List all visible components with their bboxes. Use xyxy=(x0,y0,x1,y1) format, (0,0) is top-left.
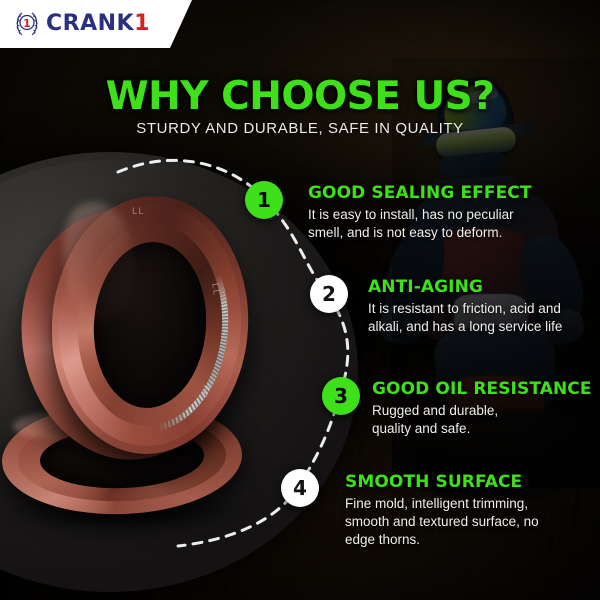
oil-seal-standing-ring: LL LL FF xyxy=(43,189,257,460)
feature-1-line-2: smell, and is not easy to deform. xyxy=(308,224,532,242)
step-badge-4-number: 4 xyxy=(293,476,307,500)
why-choose-us-poster: LL LL FF xyxy=(0,0,600,600)
brand-wordmark: CRANK1 xyxy=(46,13,150,35)
step-badge-3[interactable]: 3 xyxy=(322,377,360,415)
svg-text:1: 1 xyxy=(23,17,31,30)
page-subtitle: STURDY AND DURABLE, SAFE IN QUALITY xyxy=(0,120,600,137)
product-marking: LL xyxy=(209,282,221,296)
feature-1-body: It is easy to install, has no peculiar s… xyxy=(308,206,532,242)
feature-4-body: Fine mold, intelligent trimming, smooth … xyxy=(345,495,539,549)
feature-2-line-1: It is resistant to friction, acid and xyxy=(368,300,562,318)
feature-3-title: GOOD OIL RESISTANCE xyxy=(372,379,592,399)
feature-1-title: GOOD SEALING EFFECT xyxy=(308,183,532,203)
feature-2-title: ANTI-AGING xyxy=(368,277,562,297)
feature-4-line-1: Fine mold, intelligent trimming, xyxy=(345,495,539,513)
feature-3-line-1: Rugged and durable, xyxy=(372,402,592,420)
step-badge-2-number: 2 xyxy=(322,282,336,306)
feature-4-line-2: smooth and textured surface, no xyxy=(345,513,539,531)
feature-block-2: ANTI-AGING It is resistant to friction, … xyxy=(368,277,562,336)
feature-3-line-2: quality and safe. xyxy=(372,420,592,438)
oil-seals-product-image: LL LL FF xyxy=(8,196,258,516)
step-badge-1-number: 1 xyxy=(257,188,271,212)
step-badge-4[interactable]: 4 xyxy=(281,469,319,507)
feature-block-1: GOOD SEALING EFFECT It is easy to instal… xyxy=(308,183,532,242)
step-badge-1[interactable]: 1 xyxy=(245,181,283,219)
product-marking: LL xyxy=(132,207,145,217)
feature-block-4: SMOOTH SURFACE Fine mold, intelligent tr… xyxy=(345,472,539,549)
laurel-wreath-number-one-icon: 1 xyxy=(12,9,42,39)
page-title: WHY CHOOSE US? xyxy=(0,74,600,119)
step-badge-2[interactable]: 2 xyxy=(310,275,348,313)
feature-3-body: Rugged and durable, quality and safe. xyxy=(372,402,592,438)
step-badge-3-number: 3 xyxy=(334,384,348,408)
feature-4-title: SMOOTH SURFACE xyxy=(345,472,539,492)
feature-2-line-2: alkali, and has a long service life xyxy=(368,318,562,336)
brand-logo-banner[interactable]: 1 CRANK1 xyxy=(0,0,192,48)
brand-name-text: CRANK xyxy=(46,13,134,35)
feature-2-body: It is resistant to friction, acid and al… xyxy=(368,300,562,336)
brand-name-accent: 1 xyxy=(134,13,150,35)
feature-1-line-1: It is easy to install, has no peculiar xyxy=(308,206,532,224)
feature-4-line-3: edge thorns. xyxy=(345,531,539,549)
feature-block-3: GOOD OIL RESISTANCE Rugged and durable, … xyxy=(372,379,592,438)
